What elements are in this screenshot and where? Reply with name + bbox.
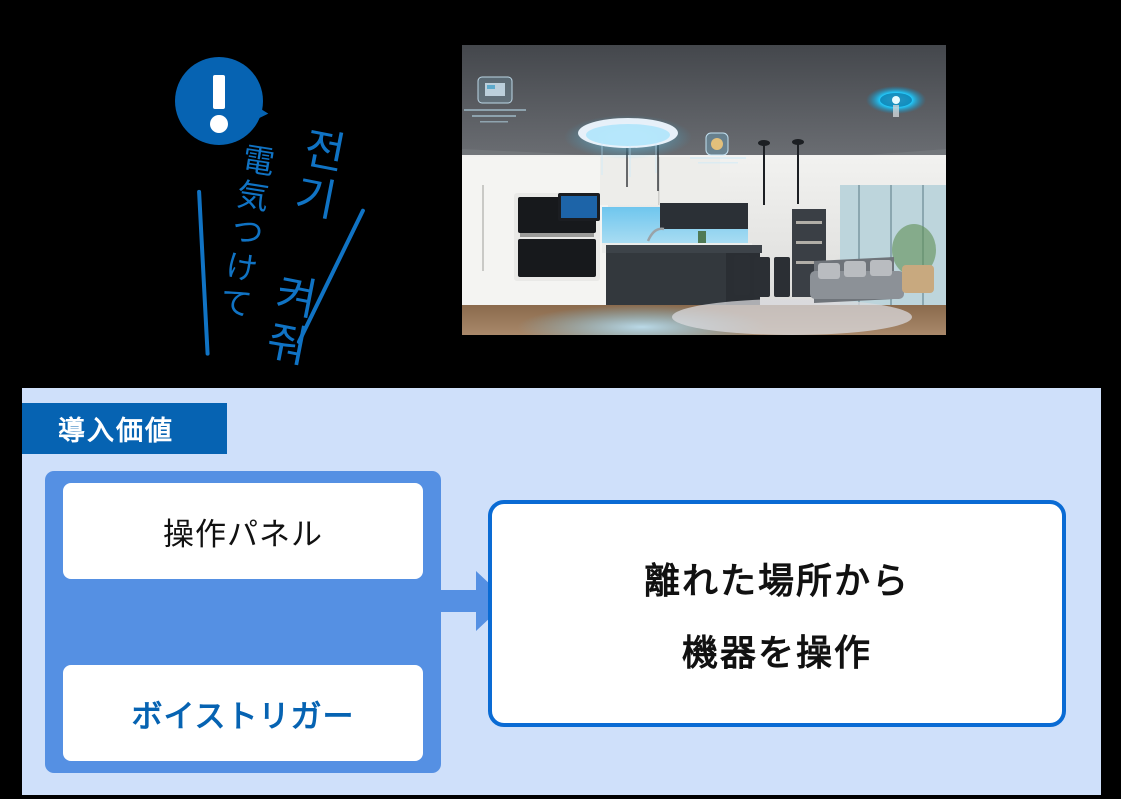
slide-canvas: 전기 켜줘 電気つけて xyxy=(0,0,1121,799)
input-card-control-panel[interactable]: 操作パネル xyxy=(63,483,423,579)
outcome-line-2: 機器を操作 xyxy=(682,624,872,676)
input-card-voice-trigger[interactable]: ボイストリガー xyxy=(63,665,423,761)
exclamation-mark-icon xyxy=(213,75,225,109)
callout-line-left xyxy=(197,190,210,356)
value-panel: 導入価値 操作パネル ボイストリガー 離れた xyxy=(22,388,1101,795)
input-card-voice-trigger-label: ボイストリガー xyxy=(131,691,354,736)
exclamation-dot-icon xyxy=(210,115,228,133)
smart-home-photo xyxy=(462,45,946,335)
outcome-card: 離れた場所から 機器を操作 xyxy=(488,500,1066,727)
section-badge: 導入価値 xyxy=(22,403,227,454)
smart-home-illustration xyxy=(462,45,946,335)
input-card-control-panel-label: 操作パネル xyxy=(163,509,323,554)
inputs-group: 操作パネル ボイストリガー xyxy=(45,471,441,773)
section-badge-label: 導入価値 xyxy=(58,409,174,448)
outcome-line-1: 離れた場所から xyxy=(644,552,910,604)
